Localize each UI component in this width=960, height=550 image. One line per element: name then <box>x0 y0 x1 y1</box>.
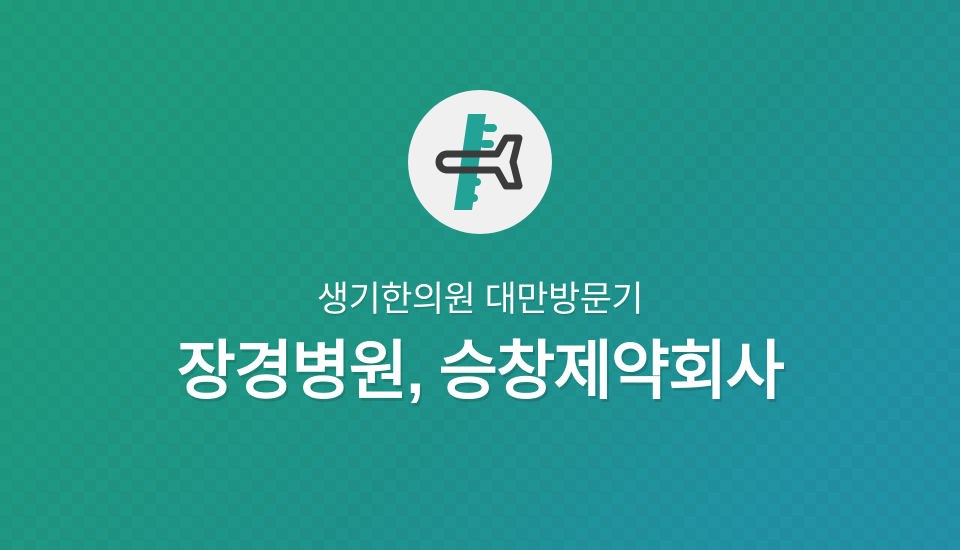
promo-banner: 생기한의원 대만방문기 장경병원, 승창제약회사 <box>0 0 960 550</box>
airplane-emblem-badge <box>408 90 552 234</box>
background-texture <box>0 0 960 550</box>
banner-title: 장경병원, 승창제약회사 <box>0 334 960 410</box>
banner-subtitle: 생기한의원 대만방문기 <box>0 278 960 322</box>
banner-text-block: 생기한의원 대만방문기 장경병원, 승창제약회사 <box>0 278 960 409</box>
airplane-icon <box>427 110 533 214</box>
